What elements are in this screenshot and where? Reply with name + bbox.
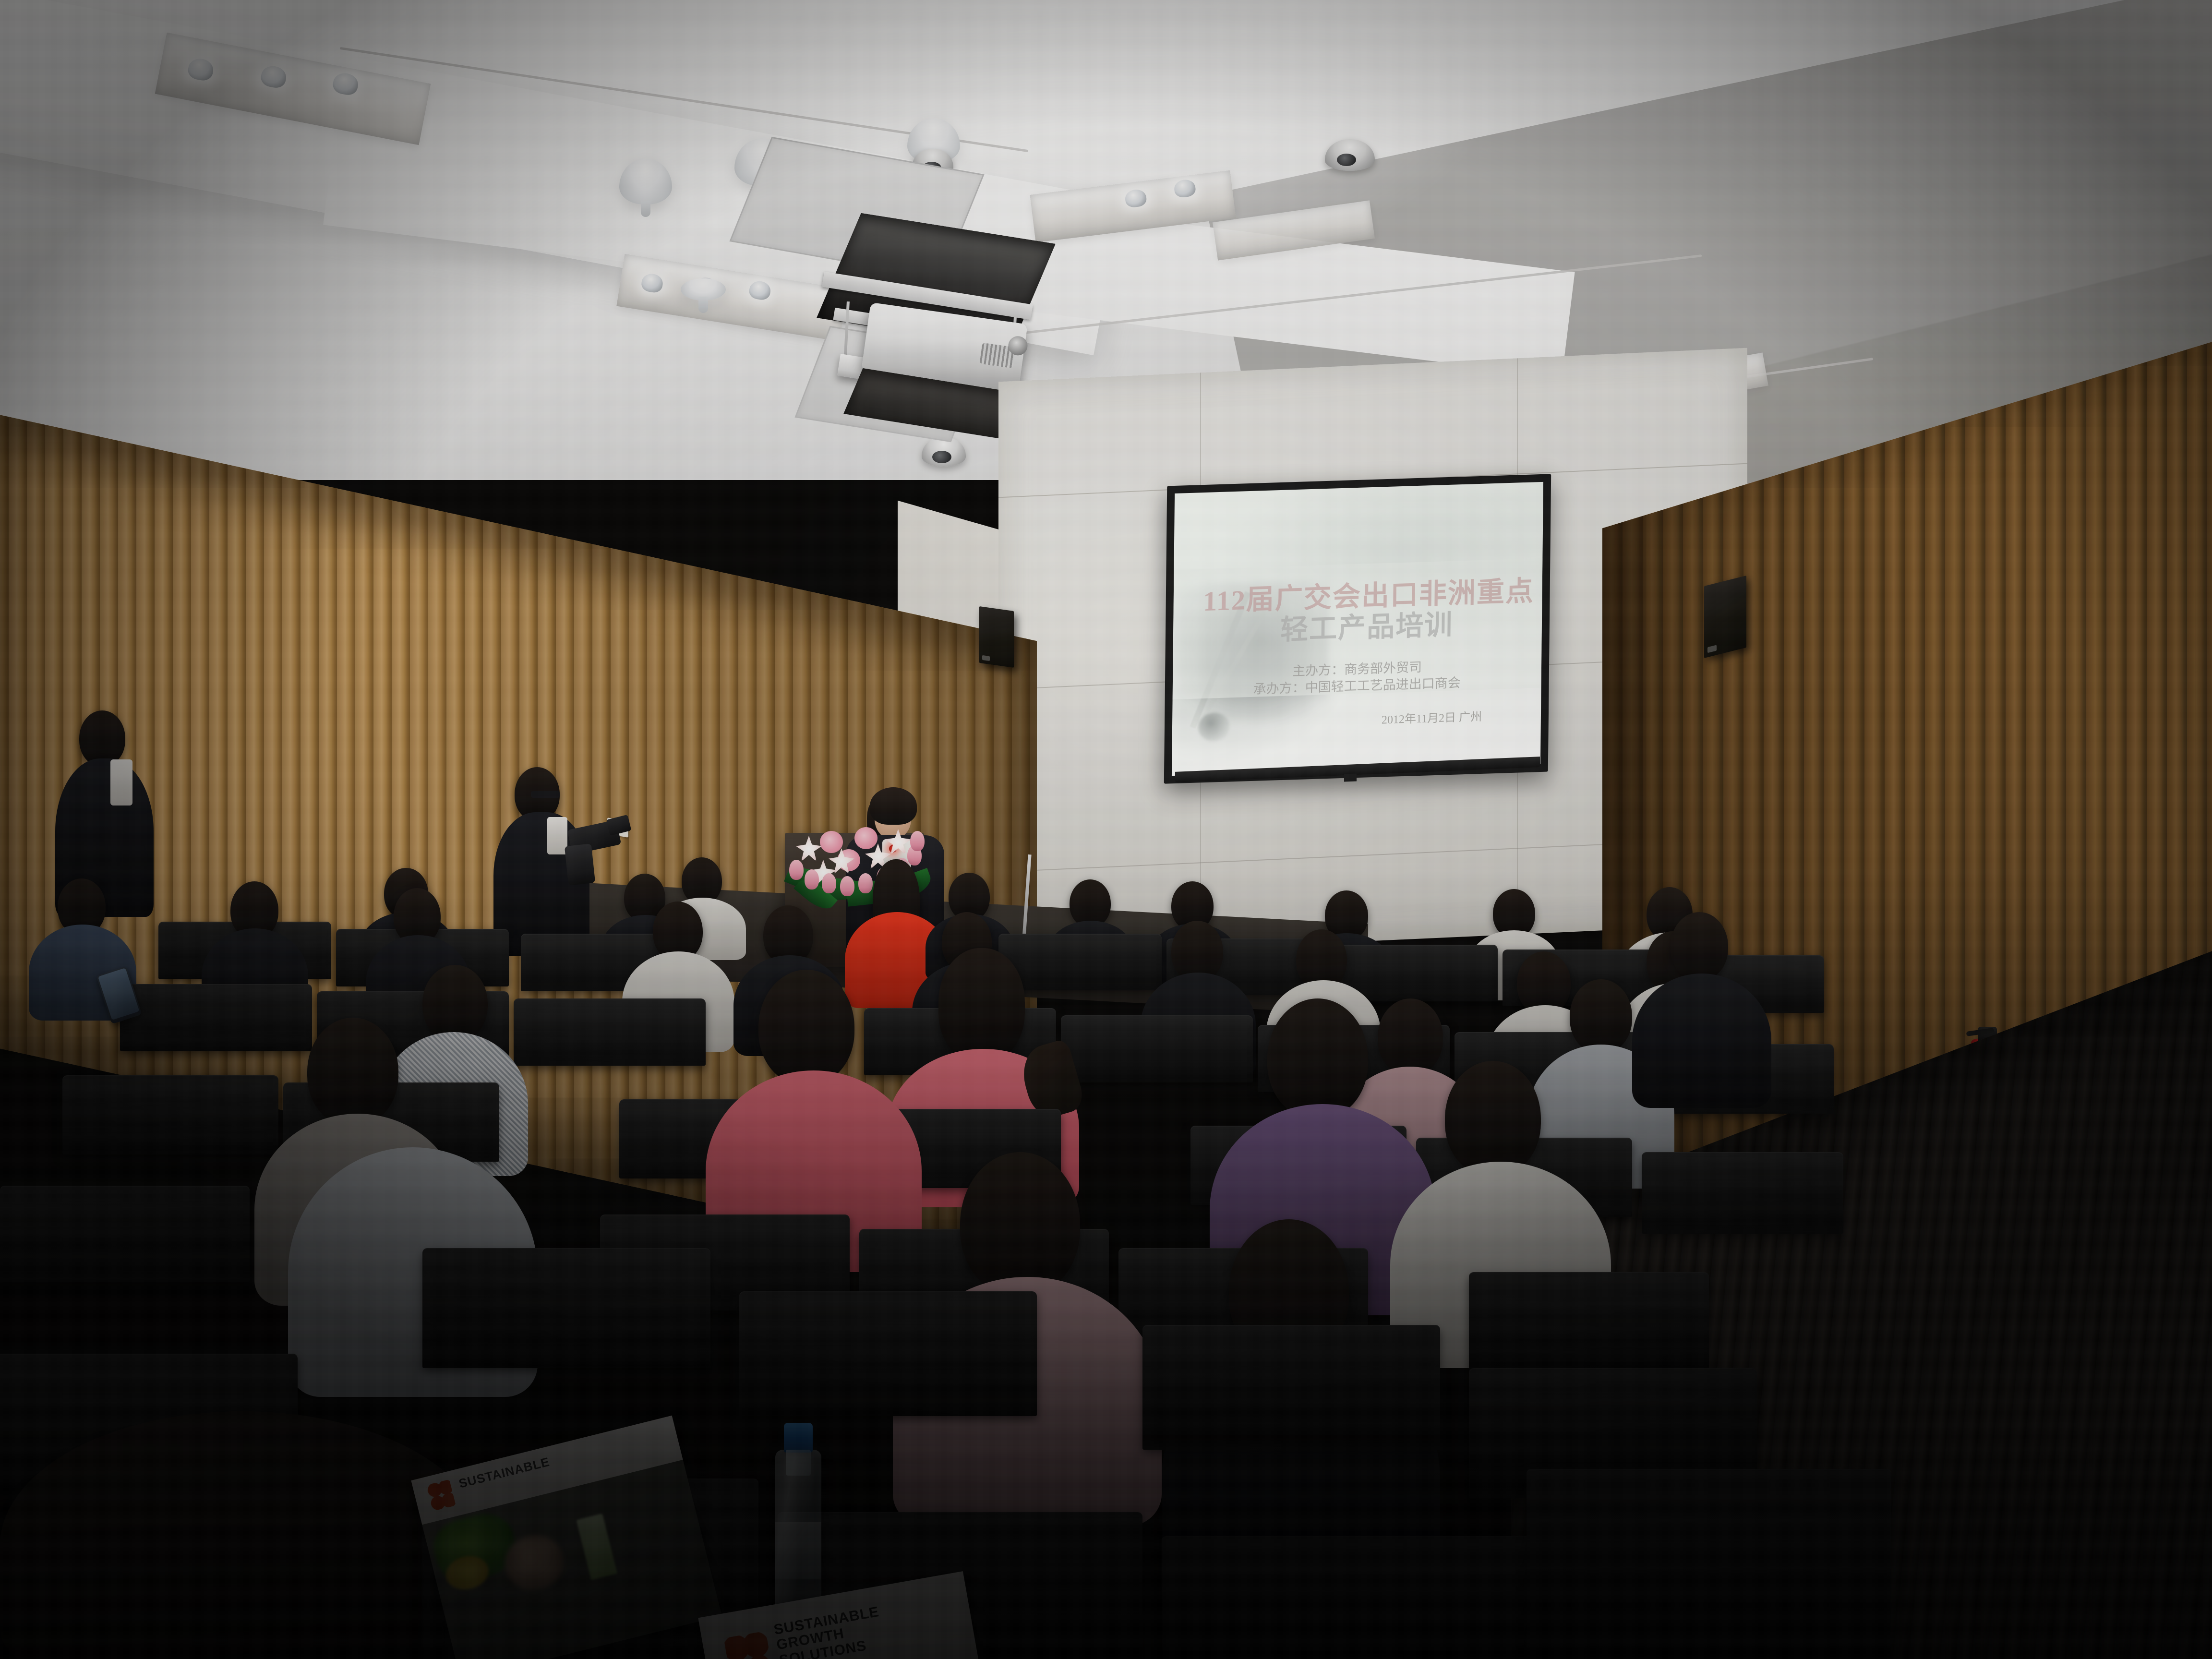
pink-rose [820, 831, 843, 853]
spotlight-lamp [186, 57, 215, 82]
auditorium-seat [739, 1291, 1037, 1416]
head [79, 710, 125, 766]
bottle-neck [786, 1450, 811, 1476]
head [1570, 979, 1632, 1053]
auditorium-seat [1142, 1325, 1440, 1450]
auditorium-seat [514, 998, 706, 1066]
auditorium-seat [1527, 1469, 1891, 1659]
wall-speaker-left [979, 606, 1014, 668]
head [422, 965, 488, 1042]
auditorium-seat [120, 984, 312, 1051]
auditorium-seat [1162, 1536, 1546, 1659]
auditorium-seat [1061, 1015, 1253, 1082]
pink-bud [910, 831, 925, 851]
slide-date-location: 2012年11月2日 广州 [1382, 707, 1482, 727]
head [960, 1152, 1080, 1296]
body [1632, 974, 1771, 1108]
auditorium-seat [62, 1075, 278, 1154]
spotlight-lamp [748, 280, 771, 301]
brochure-front-text: SUSTAINABLE GROWTH SOLUTIONS [773, 1589, 969, 1659]
head [758, 970, 854, 1085]
glasses-icon [531, 791, 560, 798]
pink-bud [789, 860, 804, 880]
flush-downlight-icon [681, 278, 726, 301]
bottle-cap[interactable] [784, 1423, 813, 1453]
brochure-photo-bottle [576, 1514, 617, 1580]
auditorium-seat [998, 934, 1162, 990]
projection-screen-pull-tab[interactable] [1344, 773, 1357, 781]
pink-bud [805, 869, 819, 890]
spotlight-lamp [331, 71, 360, 96]
auditorium-photo: 112届广交会出口非洲重点 轻工产品培训 主办方：商务部外贸司 承办方：中国轻工… [0, 0, 2212, 1659]
head [1671, 912, 1728, 980]
head [1445, 1061, 1541, 1176]
spotlight-lamp [259, 64, 288, 89]
pink-bud [822, 873, 836, 893]
pink-bud [840, 876, 854, 896]
brochure-logo-icon [723, 1631, 776, 1659]
head [938, 948, 1025, 1061]
projection-screen: 112届广交会出口非洲重点 轻工产品培训 主办方：商务部外贸司 承办方：中国轻工… [1164, 474, 1551, 783]
auditorium-seat [0, 1186, 250, 1282]
camera-lens-icon [565, 843, 595, 885]
projection-screen-surface: 112届广交会出口非洲重点 轻工产品培训 主办方：商务部外贸司 承办方：中国轻工… [1172, 482, 1543, 776]
white-lily [796, 836, 822, 862]
auditorium-seat [1469, 1272, 1709, 1373]
pink-bud [858, 873, 873, 893]
spotlight-lamp [1124, 189, 1147, 208]
spotlight-lamp [640, 272, 664, 293]
brochure-left[interactable]: SUSTAINABLE [411, 1416, 721, 1659]
head [1070, 879, 1111, 927]
auditorium-seat [422, 1248, 710, 1368]
wall-speaker-right [1704, 576, 1746, 658]
shirt-collar [110, 759, 132, 805]
spotlight-lamp [1173, 179, 1196, 198]
auditorium-seat [1642, 1152, 1843, 1234]
head [307, 1018, 398, 1126]
pink-rose [854, 827, 878, 849]
white-lily [885, 829, 911, 855]
brochure-header-strip [411, 1416, 683, 1525]
head [1378, 998, 1443, 1075]
bottle-label [775, 1522, 821, 1579]
head [1267, 998, 1368, 1118]
